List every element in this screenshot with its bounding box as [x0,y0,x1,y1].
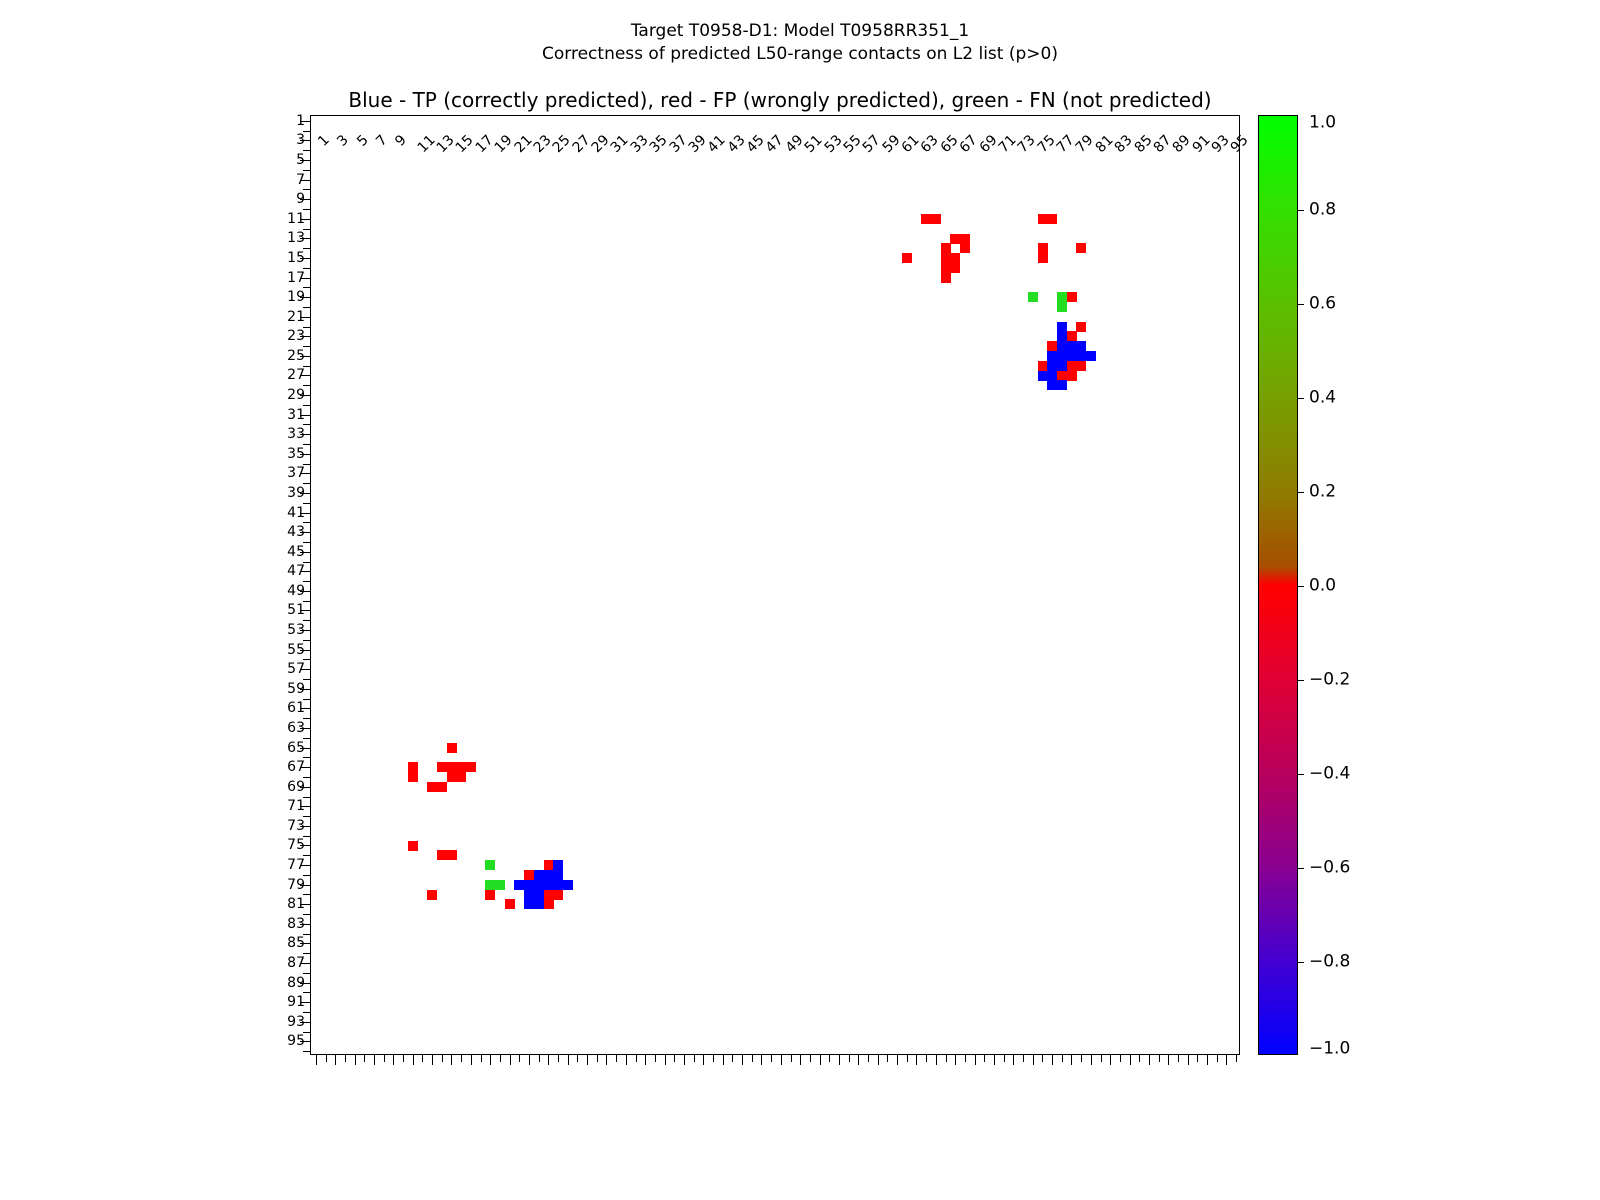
y-axis-tick-label: 17 [287,271,305,285]
x-axis-tick [655,1054,656,1062]
contact-cell-tp [544,880,554,890]
x-axis-tick [1217,1054,1218,1062]
x-axis-tick [1139,1054,1140,1062]
y-axis-tick-label: 53 [287,623,305,637]
contact-cell-fp [941,243,951,253]
contact-cell-fp [1038,214,1048,224]
contact-cell-fp [408,762,418,772]
colorbar-tick [1297,680,1304,681]
y-axis-tick-label: 5 [296,153,305,167]
contact-cell-tp [563,880,573,890]
y-axis-tick-label: 87 [287,956,305,970]
colorbar-tick-label: 0.6 [1309,296,1336,313]
colorbar-tick [1297,868,1304,869]
contact-cell-fp [466,762,476,772]
x-axis-tick [616,1054,617,1062]
x-axis-tick [1120,1054,1121,1062]
x-axis-tick [645,1054,646,1065]
contact-cell-fp [447,743,457,753]
x-axis-tick [800,1054,801,1065]
contact-cell-fp [437,782,447,792]
contact-cell-fn [485,880,495,890]
contact-cell-tp [1057,341,1067,351]
colorbar-tick-label: −0.6 [1309,860,1350,877]
x-axis-tick [742,1054,743,1065]
contact-cell-fp [941,253,951,263]
x-axis-tick [868,1054,869,1062]
contact-cell-fn [1028,292,1038,302]
contact-cell-tp [534,890,544,900]
x-axis-tick [897,1054,898,1065]
x-axis-tick [626,1054,627,1065]
y-axis-tick-label: 13 [287,231,305,245]
x-axis-tick [422,1054,423,1062]
x-axis-tick [1052,1054,1053,1065]
contact-cell-tp [1057,380,1067,390]
x-axis-tick [907,1054,908,1062]
colorbar-tick [1297,492,1304,493]
title-line-1: Target T0958-D1: Model T0958RR351_1 [0,20,1600,43]
colorbar-tick-label: 0.4 [1309,390,1336,407]
x-axis-tick [316,1054,317,1065]
contact-cell-tp [553,860,563,870]
x-axis-tick [955,1054,956,1065]
colorbar-tick-label: −0.8 [1309,954,1350,971]
contact-cell-fp [1067,331,1077,341]
colorbar-tick-label: −0.2 [1309,672,1350,689]
x-axis-tick [752,1054,753,1062]
contact-cell-fp [902,253,912,263]
contact-cell-fp [456,772,466,782]
contact-cell-fp [1038,361,1048,371]
y-axis-tick-label: 57 [287,662,305,676]
contact-cell-fp [1057,371,1067,381]
colorbar-tick-label: −1.0 [1309,1041,1350,1058]
y-axis-tick-label: 61 [287,701,305,715]
contact-cell-fp [505,899,515,909]
y-axis-tick-label: 31 [287,408,305,422]
contact-cell-fp [456,762,466,772]
x-axis-tick [636,1054,637,1062]
contact-cell-tp [553,870,563,880]
x-axis-tick [703,1054,704,1065]
contact-cell-fp [437,762,447,772]
x-axis-tick [529,1054,530,1065]
x-axis-tick [510,1054,511,1065]
colorbar-tick-label: 0.2 [1309,484,1336,501]
y-axis-tick-label: 91 [287,995,305,1009]
x-axis-tick [791,1054,792,1062]
y-axis-tick [303,1051,311,1052]
contact-cell-fp [1047,341,1057,351]
x-axis-tick [355,1054,356,1065]
x-axis-tick [1013,1054,1014,1065]
x-axis-tick [393,1054,394,1065]
x-axis-tick [606,1054,607,1065]
x-axis-tick [732,1054,733,1062]
x-axis-tick [1236,1054,1237,1062]
contact-cell-tp [1057,361,1067,371]
x-axis-tick [1168,1054,1169,1065]
y-axis-tick-label: 71 [287,799,305,813]
x-axis-tick [946,1054,947,1062]
y-axis-tick-label: 93 [287,1015,305,1029]
contact-cell-tp [1057,351,1067,361]
contact-cell-fp [485,890,495,900]
x-axis-tick [539,1054,540,1062]
contact-cell-fp [408,841,418,851]
contact-cell-fp [1047,214,1057,224]
colorbar-tick [1297,774,1304,775]
x-axis-tick [684,1054,685,1065]
x-axis-tick [1130,1054,1131,1065]
colorbar-tick-label: 1.0 [1309,115,1336,132]
colorbar-tick [1297,304,1304,305]
x-axis-tick [975,1054,976,1065]
contact-cell-fp [544,860,554,870]
contact-cell-fp [544,899,554,909]
x-axis-tick [1197,1054,1198,1062]
y-axis-tick-label: 23 [287,329,305,343]
y-axis-tick-label: 89 [287,976,305,990]
y-axis-tick-label: 43 [287,525,305,539]
x-axis-tick [1178,1054,1179,1062]
contact-cell-tp [544,870,554,880]
x-axis-tick [1081,1054,1082,1062]
colorbar-tick [1297,586,1304,587]
contact-cell-fp [427,890,437,900]
y-axis-tick-label: 77 [287,858,305,872]
y-axis-tick-label: 55 [287,643,305,657]
contact-cell-fp [960,243,970,253]
x-axis-tick [1091,1054,1092,1065]
x-axis-tick [432,1054,433,1065]
x-axis-tick [1004,1054,1005,1062]
y-axis-tick-label: 95 [287,1034,305,1048]
x-axis-tick [761,1054,762,1065]
x-axis-tick [1110,1054,1111,1065]
y-axis-tick-label: 7 [296,173,305,187]
contact-cell-tp [514,880,524,890]
x-axis-tick [374,1054,375,1065]
contact-cell-tp [534,870,544,880]
x-axis-tick [1071,1054,1072,1065]
x-axis-tick [1207,1054,1208,1065]
colorbar-tick [1297,398,1304,399]
x-axis-tick [1188,1054,1189,1065]
x-axis-tick [1023,1054,1024,1062]
contact-cell-fp [931,214,941,224]
contact-cell-fp [941,263,951,273]
colorbar-tick-label: −0.4 [1309,766,1350,783]
x-axis-tick [597,1054,598,1062]
contact-cell-fp [1076,361,1086,371]
y-axis-tick-label: 19 [287,290,305,304]
contact-cell-tp [1047,351,1057,361]
y-axis-tick-label: 79 [287,878,305,892]
contact-cell-fp [524,870,534,880]
contact-cell-fp [408,772,418,782]
x-axis-tick [481,1054,482,1062]
x-axis-tick [916,1054,917,1065]
x-axis-tick [694,1054,695,1062]
contact-cell-fp [941,273,951,283]
y-axis-tick-label: 27 [287,368,305,382]
x-axis-tick [839,1054,840,1065]
contact-cell-tp [553,880,563,890]
x-axis-tick [471,1054,472,1065]
x-axis-tick [1149,1054,1150,1065]
y-axis-tick-label: 25 [287,349,305,363]
x-axis-tick [926,1054,927,1062]
contact-cell-fp [447,762,457,772]
x-axis-tick [577,1054,578,1062]
y-axis-tick-label: 75 [287,838,305,852]
color-legend-text: Blue - TP (correctly predicted), red - F… [310,88,1250,112]
y-axis-tick-label: 59 [287,682,305,696]
colorbar-tick-label: 0.0 [1309,578,1336,595]
y-axis-tick-label: 69 [287,780,305,794]
contact-cell-fp [960,234,970,244]
y-axis-tick-label: 3 [296,133,305,147]
x-axis-tick [1226,1054,1227,1065]
contact-cell-fp [447,850,457,860]
x-axis-tick [820,1054,821,1065]
contact-cell-fp [427,782,437,792]
contact-cell-fp [950,263,960,273]
x-axis-tick [665,1054,666,1065]
y-axis-tick-label: 21 [287,310,305,324]
y-axis-tick-label: 37 [287,466,305,480]
x-axis-tick [723,1054,724,1065]
contact-cell-tp [524,880,534,890]
x-axis-tick [326,1054,327,1062]
contact-cell-tp [534,899,544,909]
x-axis-tick [829,1054,830,1062]
contact-map-plot: 1357911131517192123252729313335373941434… [310,115,1240,1055]
contact-cell-tp [1057,322,1067,332]
x-axis-tick [858,1054,859,1065]
contact-cell-fp [1076,243,1086,253]
y-axis-tick-label: 1 [296,114,305,128]
y-axis-tick-label: 45 [287,545,305,559]
contact-cell-tp [1076,351,1086,361]
y-axis-tick-label: 49 [287,584,305,598]
x-axis-tick [965,1054,966,1062]
x-axis-tick [984,1054,985,1062]
y-axis-tick-label: 81 [287,897,305,911]
colorbar-tick-label: 0.8 [1309,202,1336,219]
contact-cell-fp [950,234,960,244]
x-axis-tick [461,1054,462,1062]
y-axis-tick-label: 9 [296,192,305,206]
x-axis-tick [442,1054,443,1062]
x-axis-tick [364,1054,365,1062]
contact-cell-tp [1067,351,1077,361]
contact-cell-fn [1057,302,1067,312]
x-axis-tick [674,1054,675,1062]
contact-cell-fp [1067,292,1077,302]
x-axis-tick [810,1054,811,1062]
contact-cell-fp [544,890,554,900]
x-axis-tick [403,1054,404,1062]
contact-cell-fn [495,880,505,890]
contact-cell-tp [1047,371,1057,381]
contact-cell-fp [1067,361,1077,371]
y-axis-tick-label: 35 [287,447,305,461]
x-axis-tick [345,1054,346,1062]
x-axis-tick [1062,1054,1063,1062]
x-axis-tick [1159,1054,1160,1062]
contact-cell-tp [1086,351,1096,361]
figure-title: Target T0958-D1: Model T0958RR351_1 Corr… [0,20,1600,66]
contact-cell-tp [1047,380,1057,390]
contact-cell-fp [553,890,563,900]
x-axis-tick [771,1054,772,1062]
figure-root: Target T0958-D1: Model T0958RR351_1 Corr… [0,0,1600,1200]
x-axis-tick [384,1054,385,1062]
y-axis-tick-label: 33 [287,427,305,441]
colorbar-tick [1297,962,1304,963]
x-axis-tick [548,1054,549,1065]
y-axis-tick-label: 83 [287,917,305,931]
colorbar: 1.00.80.60.40.20.0−0.2−0.4−0.6−0.8−1.0 [1258,115,1298,1055]
y-axis-tick-label: 15 [287,251,305,265]
contact-cell-tp [524,899,534,909]
contact-cell-tp [1038,371,1048,381]
y-axis-tick-label: 67 [287,760,305,774]
x-axis-tick [413,1054,414,1065]
x-axis-tick [878,1054,879,1065]
contact-cell-fp [1076,322,1086,332]
x-axis-tick [451,1054,452,1065]
x-axis-tick [490,1054,491,1065]
contact-cell-tp [1067,341,1077,351]
y-axis-tick-label: 73 [287,819,305,833]
x-axis-tick [519,1054,520,1062]
x-axis-tick [500,1054,501,1062]
y-axis-tick-label: 63 [287,721,305,735]
x-axis-tick [781,1054,782,1065]
x-axis-tick [568,1054,569,1065]
y-axis-tick-label: 65 [287,741,305,755]
x-axis-tick [849,1054,850,1062]
contact-cell-tp [534,880,544,890]
x-axis-tick [1033,1054,1034,1065]
y-axis-tick-label: 51 [287,603,305,617]
contact-cell-tp [1057,331,1067,341]
contact-cell-fp [1067,371,1077,381]
contact-cell-tp [1047,361,1057,371]
x-axis-tick [558,1054,559,1062]
x-axis-tick [587,1054,588,1065]
contact-cell-fp [447,772,457,782]
y-axis-tick-label: 11 [287,212,305,226]
x-axis-tick [1101,1054,1102,1062]
x-axis-tick [335,1054,336,1065]
x-axis-tick [713,1054,714,1062]
contact-cell-tp [1076,341,1086,351]
contact-cell-fn [485,860,495,870]
x-axis-tick [994,1054,995,1065]
contact-cell-fp [437,850,447,860]
y-axis-tick-label: 41 [287,506,305,520]
contact-cell-tp [524,890,534,900]
y-axis-tick-label: 47 [287,564,305,578]
contact-cell-fn [1057,292,1067,302]
x-axis-tick [936,1054,937,1065]
y-axis-tick-label: 85 [287,936,305,950]
contact-cell-fp [1038,243,1048,253]
contact-cell-layer [311,116,1239,1054]
contact-cell-fp [950,253,960,263]
contact-cell-fp [921,214,931,224]
y-axis-tick-label: 39 [287,486,305,500]
contact-cell-fp [1038,253,1048,263]
x-axis-tick [1042,1054,1043,1062]
title-line-2: Correctness of predicted L50-range conta… [0,43,1600,66]
x-axis-tick [887,1054,888,1062]
colorbar-tick [1297,210,1304,211]
y-axis-tick-label: 29 [287,388,305,402]
